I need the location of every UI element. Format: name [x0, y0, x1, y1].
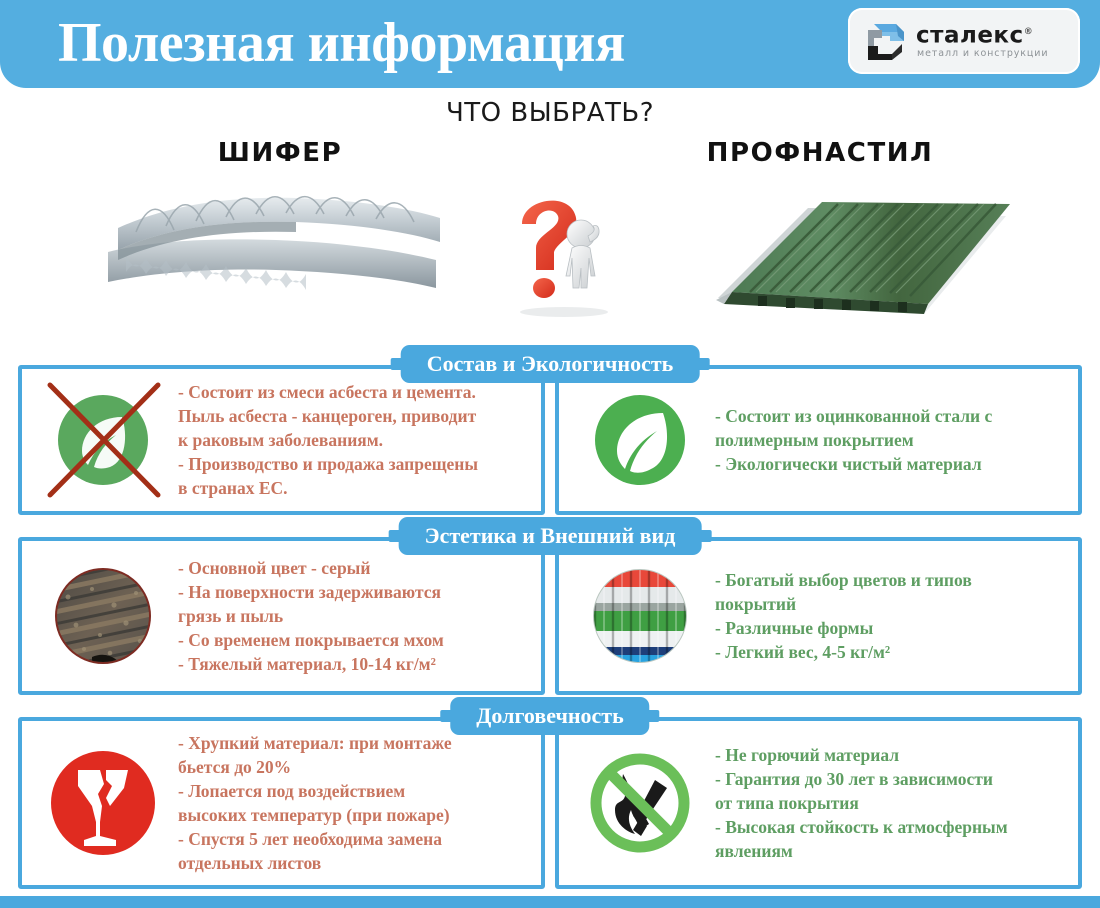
profiled-metal-sheet-image	[688, 180, 1018, 330]
right-column-title: ПРОФНАСТИЛ	[540, 138, 1100, 168]
logo-wordmark: сталекс®	[916, 19, 1033, 49]
cell-left-composition: - Состоит из смеси асбеста и цемента. Пы…	[18, 365, 545, 515]
section-composition: Состав и Экологичность - Состоит из смес…	[18, 365, 1082, 515]
eco-leaf-icon	[577, 377, 703, 503]
dirty-slate-photo-icon	[40, 553, 166, 679]
no-asbestos-icon	[40, 377, 166, 503]
cell-right-composition: - Состоит из оцинкованной стали с полиме…	[555, 365, 1082, 515]
slate-sheet-image	[96, 180, 446, 315]
header-banner: Полезная информация сталекс® металл и ко…	[0, 0, 1100, 88]
text-left-aesthetics: - Основной цвет - серый - На поверхности…	[166, 556, 531, 676]
left-column-title: ШИФЕР	[0, 138, 560, 168]
cell-right-aesthetics: - Богатый выбор цветов и типов покрытий …	[555, 537, 1082, 695]
fragile-broken-glass-icon	[40, 740, 166, 866]
registered-mark: ®	[1024, 27, 1034, 37]
section-title-durability: Долговечность	[450, 697, 649, 735]
color-sheets-photo-icon	[577, 553, 703, 679]
section-durability: Долговечность - Хрупкий материал: при мо…	[18, 717, 1082, 889]
cell-right-durability: - Не горючий материал - Гарантия до 30 л…	[555, 717, 1082, 889]
text-right-durability: - Не горючий материал - Гарантия до 30 л…	[703, 743, 1068, 863]
infographic-page: Полезная информация сталекс® металл и ко…	[0, 0, 1100, 908]
text-right-aesthetics: - Богатый выбор цветов и типов покрытий …	[703, 568, 1068, 664]
section-title-aesthetics: Эстетика и Внешний вид	[399, 517, 702, 555]
choose-question: ЧТО ВЫБРАТЬ?	[0, 98, 1100, 128]
cell-left-aesthetics: - Основной цвет - серый - На поверхности…	[18, 537, 545, 695]
page-title: Полезная информация	[58, 6, 625, 80]
brand-logo: сталекс® металл и конструкции	[848, 8, 1080, 74]
cell-left-durability: - Хрупкий материал: при монтаже бьется д…	[18, 717, 545, 889]
section-aesthetics: Эстетика и Внешний вид	[18, 537, 1082, 695]
no-fire-icon	[577, 740, 703, 866]
section-title-composition: Состав и Экологичность	[401, 345, 700, 383]
logo-cube-icon	[860, 16, 910, 66]
text-right-composition: - Состоит из оцинкованной стали с полиме…	[703, 404, 1068, 476]
text-left-durability: - Хрупкий материал: при монтаже бьется д…	[166, 731, 531, 875]
question-mark-figure-image	[502, 190, 618, 318]
text-left-composition: - Состоит из смеси асбеста и цемента. Пы…	[166, 380, 531, 500]
logo-tagline: металл и конструкции	[917, 48, 1048, 59]
footer-bar	[0, 896, 1100, 908]
logo-name: сталекс	[916, 23, 1024, 49]
